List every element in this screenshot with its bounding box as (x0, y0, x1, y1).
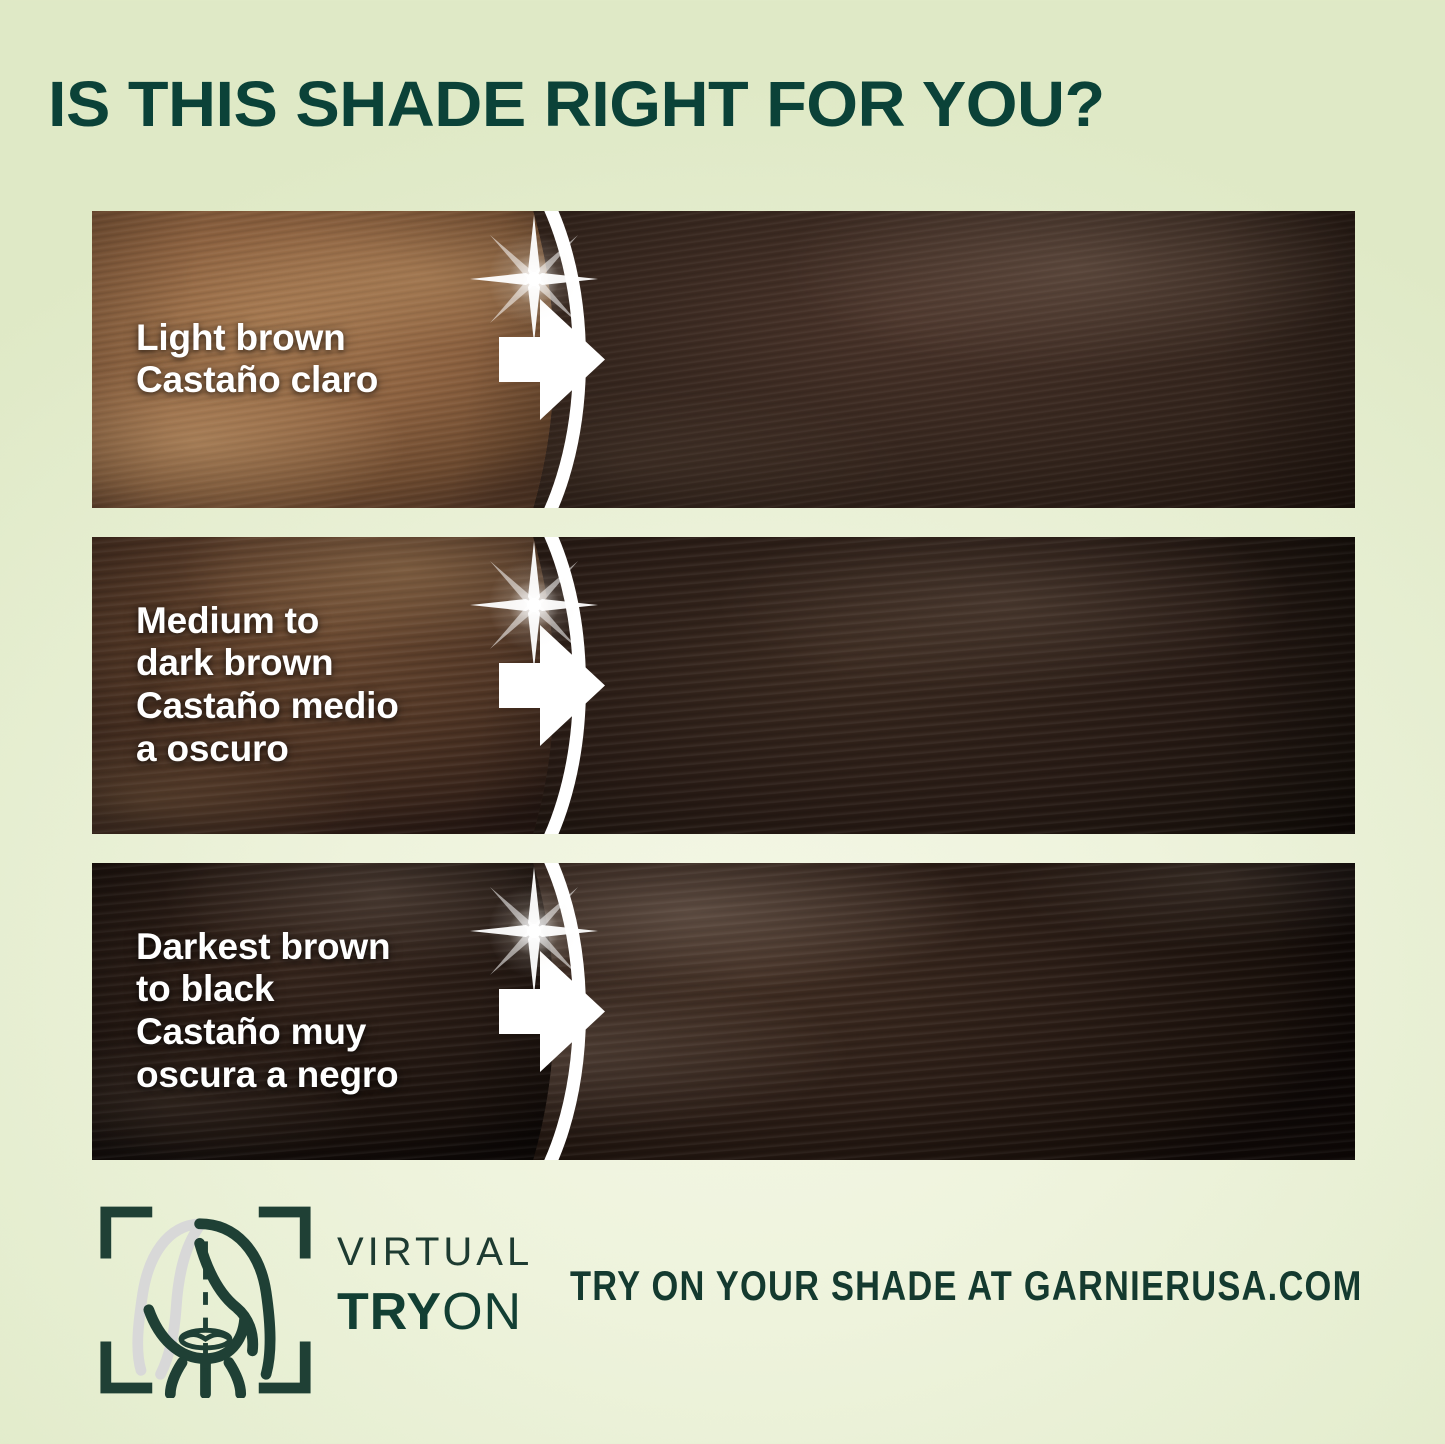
logo-on-text: ON (442, 1283, 522, 1341)
footer: VIRTUAL TRYON TRY ON YOUR SHADE AT GARNI… (92, 1196, 1392, 1406)
virtual-try-on-wordmark: VIRTUAL TRYON (337, 1232, 533, 1338)
logo-virtual-text: VIRTUAL (337, 1232, 533, 1272)
logo-tryon-text: TRYON (337, 1286, 533, 1338)
virtual-try-on-face-scan-icon (98, 1202, 313, 1398)
page-title: IS THIS SHADE RIGHT FOR YOU? (48, 72, 1445, 136)
shade-label: Medium to dark brown Castaño medio a osc… (136, 600, 399, 772)
logo-try-text: TRY (337, 1283, 442, 1341)
tagline: TRY ON YOUR SHADE AT GARNIERUSA.COM (570, 1262, 1362, 1310)
shade-panel-light-brown[interactable]: Light brown Castaño claro (92, 211, 1355, 508)
shade-label: Light brown Castaño claro (136, 317, 378, 403)
shade-label: Darkest brown to black Castaño muy oscur… (136, 926, 398, 1098)
shade-panel-medium-dark-brown[interactable]: Medium to dark brown Castaño medio a osc… (92, 537, 1355, 834)
shade-panel-darkest-brown-black[interactable]: Darkest brown to black Castaño muy oscur… (92, 863, 1355, 1160)
shade-comparison-list: Light brown Castaño claro (92, 211, 1355, 1160)
